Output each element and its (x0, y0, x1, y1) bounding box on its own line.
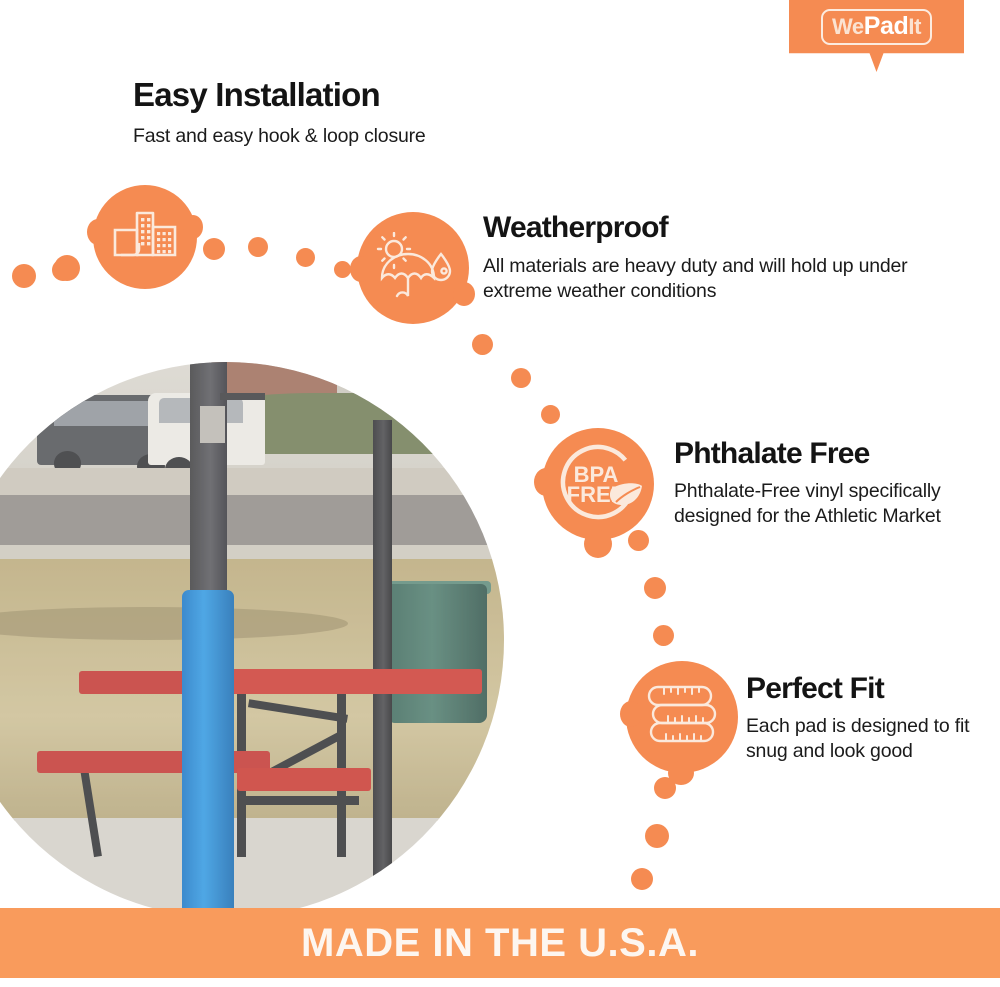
trail-dot (644, 577, 666, 599)
phthalate-free-icon-bubble: BPA FREE (542, 428, 654, 540)
bubble-lobe (620, 701, 642, 727)
trail-dot (541, 405, 560, 424)
feature-perfect-fit: Perfect Fit Each pad is designed to fit … (746, 673, 986, 765)
trail-dot (653, 625, 674, 646)
perfect-fit-icon-bubble (626, 661, 738, 773)
trail-dot (511, 368, 531, 388)
trail-dot (334, 261, 351, 278)
trail-dot (248, 237, 268, 257)
trail-dot (296, 248, 315, 267)
feature-title: Weatherproof (483, 212, 913, 244)
feature-description: Phthalate-Free vinyl specifically design… (674, 479, 964, 531)
trail-dot (631, 868, 653, 890)
bubble-lobe (453, 282, 475, 306)
bubble-lobe (87, 219, 109, 245)
logo-text-pad: Pad (864, 14, 909, 39)
infographic-page: We Pad It (0, 0, 1000, 987)
wepadit-logo-badge: We Pad It (789, 0, 964, 72)
bubble-lobe (183, 215, 203, 239)
trail-dot (12, 264, 36, 288)
feature-title: Perfect Fit (746, 673, 986, 705)
logo-text-it: It (908, 16, 921, 38)
bubble-lobe (668, 761, 694, 785)
easy-installation-icon-bubble (93, 185, 197, 289)
buildings-icon (113, 209, 177, 265)
feature-description: All materials are heavy duty and will ho… (483, 254, 913, 306)
logo-text-we: We (832, 16, 864, 38)
bubble-lobe (534, 468, 558, 496)
photo-overlay (0, 362, 504, 918)
trail-dot (628, 530, 649, 551)
feature-description: Each pad is designed to fit snug and loo… (746, 714, 986, 766)
feature-phthalate-free: Phthalate Free Phthalate-Free vinyl spec… (674, 438, 964, 530)
trail-dot (645, 824, 669, 848)
feature-easy-installation: Easy Installation Fast and easy hook & l… (133, 78, 563, 150)
bubble-lobe (584, 530, 612, 558)
bubble-lobe (350, 256, 372, 282)
feature-description: Fast and easy hook & loop closure (133, 124, 563, 150)
made-in-usa-text: MADE IN THE U.S.A. (301, 921, 699, 966)
trail-dot (203, 238, 225, 260)
bpa-free-leaf-icon: BPA FREE (552, 438, 644, 530)
measuring-tape-icon (640, 675, 724, 759)
product-photo (0, 362, 504, 918)
weatherproof-icon-bubble (357, 212, 469, 324)
umbrella-sun-raindrop-icon (374, 232, 452, 304)
feature-title: Easy Installation (133, 78, 563, 113)
made-in-usa-banner: MADE IN THE U.S.A. (0, 908, 1000, 978)
trail-dot (472, 334, 493, 355)
feature-title: Phthalate Free (674, 438, 964, 470)
trail-dot (54, 255, 80, 281)
feature-weatherproof: Weatherproof All materials are heavy dut… (483, 212, 913, 305)
logo-outline: We Pad It (821, 9, 932, 45)
